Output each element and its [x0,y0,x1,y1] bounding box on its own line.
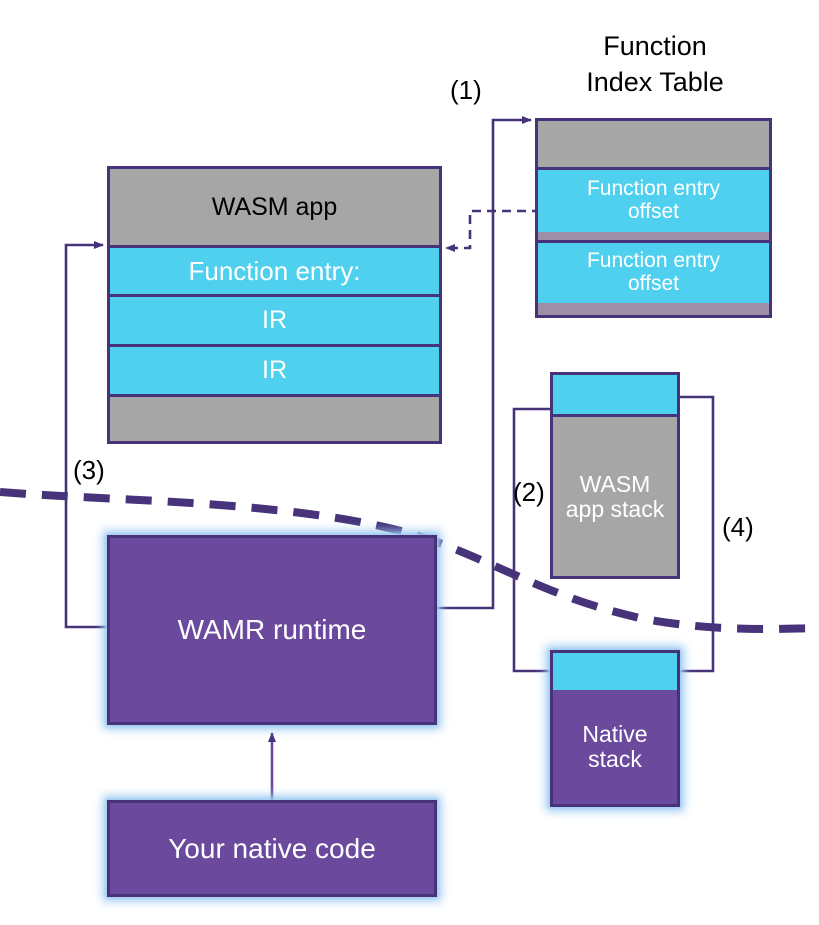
wasm-app-empty-footer [110,397,439,441]
wamr-runtime-box[interactable]: WAMR runtime [107,535,437,725]
step-label-2: (2) [513,477,545,508]
wasm-app-stack-frame-band [553,375,677,417]
wasm-app-box[interactable]: WASM app Function entry: IR IR [107,166,442,444]
wasm-app-title: WASM app [110,169,439,248]
wasm-app-stack-label: WASM app stack [553,417,677,576]
step-label-1: (1) [450,75,482,106]
your-native-code-box[interactable]: Your native code [107,800,437,897]
native-stack-box[interactable]: Native stack [550,650,680,807]
fit-entry-row-1[interactable]: Function entry offset [538,167,769,232]
step-label-3: (3) [73,455,105,486]
wasm-app-ir-row-2[interactable]: IR [110,347,439,397]
native-stack-label: Native stack [553,690,677,804]
native-stack-frame-band [553,653,677,690]
step-label-4: (4) [722,512,754,543]
wasm-app-ir-row-1[interactable]: IR [110,297,439,347]
fit-empty-top-row [538,121,769,167]
connector-step-3 [66,245,107,627]
fit-divider-1 [538,232,769,240]
function-index-table[interactable]: Function entry offset Function entry off… [535,118,772,318]
fit-entry-row-2[interactable]: Function entry offset [538,240,769,303]
fit-divider-2 [538,303,769,315]
wasm-app-stack-box[interactable]: WASM app stack [550,372,680,579]
your-native-code-label: Your native code [168,833,376,865]
wasm-app-function-entry-row[interactable]: Function entry: [110,248,439,297]
diagram-canvas: Function Index Table Function entry offs… [0,0,819,925]
wamr-runtime-label: WAMR runtime [178,614,367,646]
function-index-table-title: Function Index Table [525,28,785,101]
